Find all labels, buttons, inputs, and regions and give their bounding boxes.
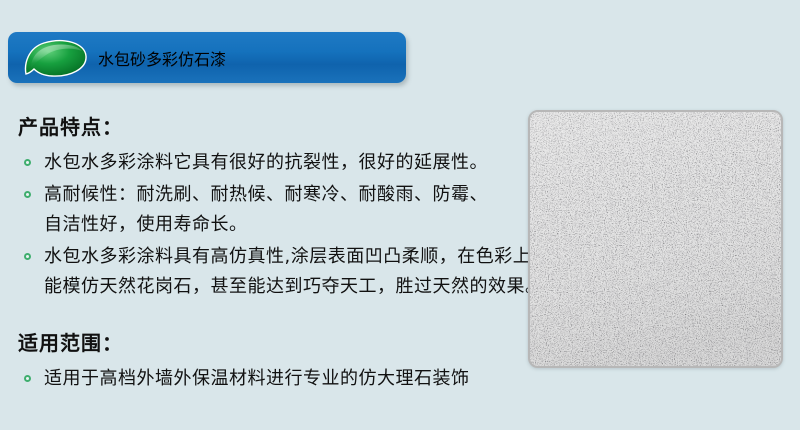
list-item-line: 自洁性好，使用寿命长。: [44, 210, 518, 240]
list-item-line: 水包水多彩涂料它具有很好的抗裂性，很好的延展性。: [44, 148, 518, 178]
list-item: 适用于高档外墙外保温材料进行专业的仿大理石装饰: [18, 364, 518, 394]
granite-texture-icon: [530, 112, 781, 366]
bullet-ring-icon: [24, 253, 31, 260]
bullet-ring-icon: [24, 159, 31, 166]
list-item: 水包水多彩涂料它具有很好的抗裂性，很好的延展性。: [18, 148, 518, 178]
scope-section: 适用范围： 适用于高档外墙外保温材料进行专业的仿大理石装饰: [18, 328, 518, 394]
bullet-ring-icon: [24, 191, 31, 198]
list-item: 水包水多彩涂料具有高仿真性,涂层表面凹凸柔顺，在色彩上 能模仿天然花岗石，甚至能…: [18, 242, 518, 302]
scope-heading: 适用范围：: [18, 328, 518, 358]
banner-title-text: 水包砂多彩仿石漆: [98, 46, 226, 70]
leaf-icon: [22, 38, 88, 78]
list-item-line: 能模仿天然花岗石，甚至能达到巧夺天工，胜过天然的效果。: [44, 272, 518, 302]
bullet-ring-icon: [24, 375, 31, 382]
features-heading: 产品特点：: [18, 112, 518, 142]
list-item: 高耐候性：耐洗刷、耐热候、耐寒冷、耐酸雨、防霉、 自洁性好，使用寿命长。: [18, 180, 518, 240]
list-item-line: 水包水多彩涂料具有高仿真性,涂层表面凹凸柔顺，在色彩上: [44, 242, 518, 272]
product-sample-image: [528, 110, 783, 368]
product-title-banner: 水包砂多彩仿石漆: [8, 32, 406, 83]
features-list: 水包水多彩涂料它具有很好的抗裂性，很好的延展性。 高耐候性：耐洗刷、耐热候、耐寒…: [18, 148, 518, 302]
list-item-line: 高耐候性：耐洗刷、耐热候、耐寒冷、耐酸雨、防霉、: [44, 180, 518, 210]
product-info-column: 产品特点： 水包水多彩涂料它具有很好的抗裂性，很好的延展性。 高耐候性：耐洗刷、…: [18, 112, 518, 396]
features-section: 产品特点： 水包水多彩涂料它具有很好的抗裂性，很好的延展性。 高耐候性：耐洗刷、…: [18, 112, 518, 302]
scope-list: 适用于高档外墙外保温材料进行专业的仿大理石装饰: [18, 364, 518, 394]
list-item-line: 适用于高档外墙外保温材料进行专业的仿大理石装饰: [44, 364, 518, 394]
